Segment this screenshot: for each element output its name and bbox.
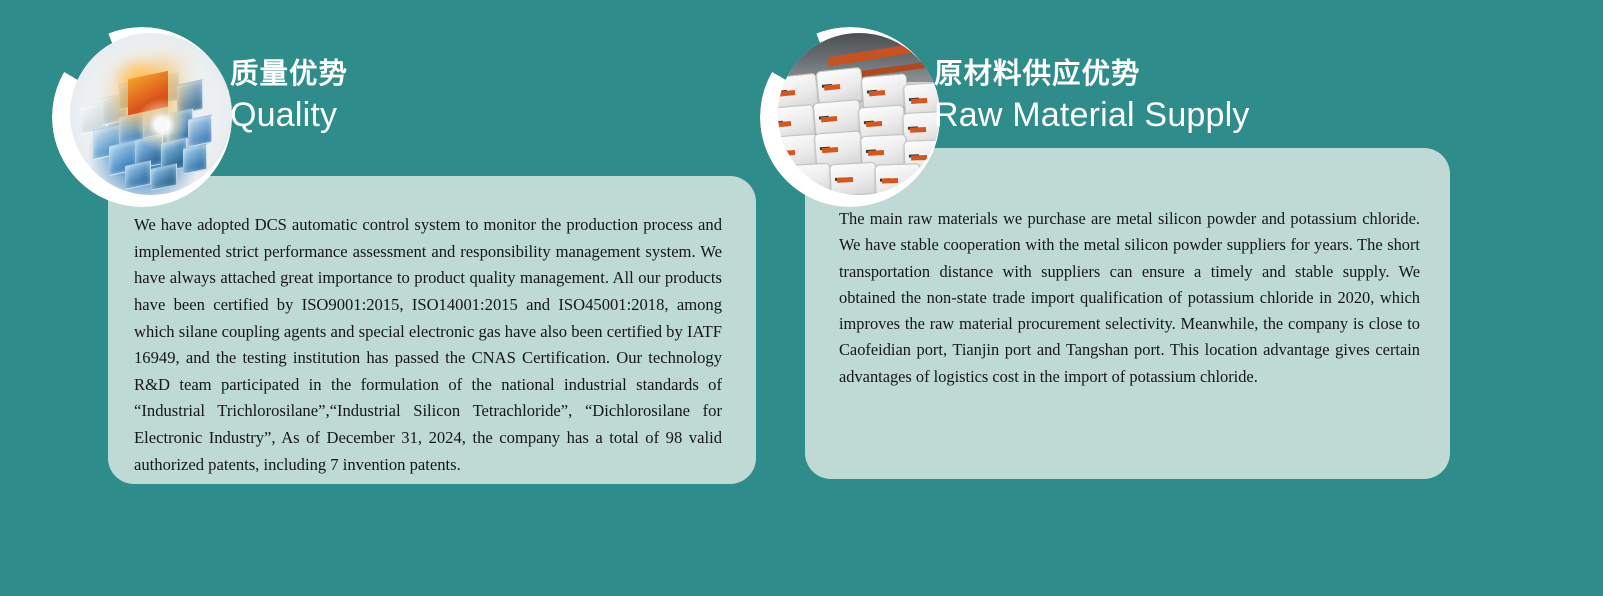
quality-body-card: We have adopted DCS automatic control sy… xyxy=(108,176,756,484)
raw-material-heading-en: Raw Material Supply xyxy=(934,97,1250,134)
bag xyxy=(829,161,878,195)
quality-heading: 质量优势 Quality xyxy=(230,58,348,134)
raw-material-badge xyxy=(760,27,940,207)
raw-material-body-text: The main raw materials we purchase are m… xyxy=(839,206,1420,390)
bag-stack xyxy=(778,33,940,195)
light-flare-icon xyxy=(135,98,189,152)
bag xyxy=(875,163,922,195)
quality-badge xyxy=(52,27,232,207)
stacked-bags-photo xyxy=(778,33,940,195)
cube xyxy=(151,163,177,191)
advantages-infographic: We have adopted DCS automatic control sy… xyxy=(0,0,1603,596)
raw-material-heading: 原材料供应优势 Raw Material Supply xyxy=(934,58,1250,134)
bag xyxy=(784,163,833,195)
quality-heading-cn: 质量优势 xyxy=(230,58,348,91)
quality-heading-en: Quality xyxy=(230,97,348,134)
cube xyxy=(125,160,151,190)
cube xyxy=(188,115,212,148)
quality-body-text: We have adopted DCS automatic control sy… xyxy=(134,212,722,478)
cube xyxy=(183,144,207,175)
raw-material-heading-cn: 原材料供应优势 xyxy=(934,58,1250,91)
panel-quality: We have adopted DCS automatic control sy… xyxy=(0,0,800,596)
crystal-cube-photo xyxy=(70,33,232,195)
